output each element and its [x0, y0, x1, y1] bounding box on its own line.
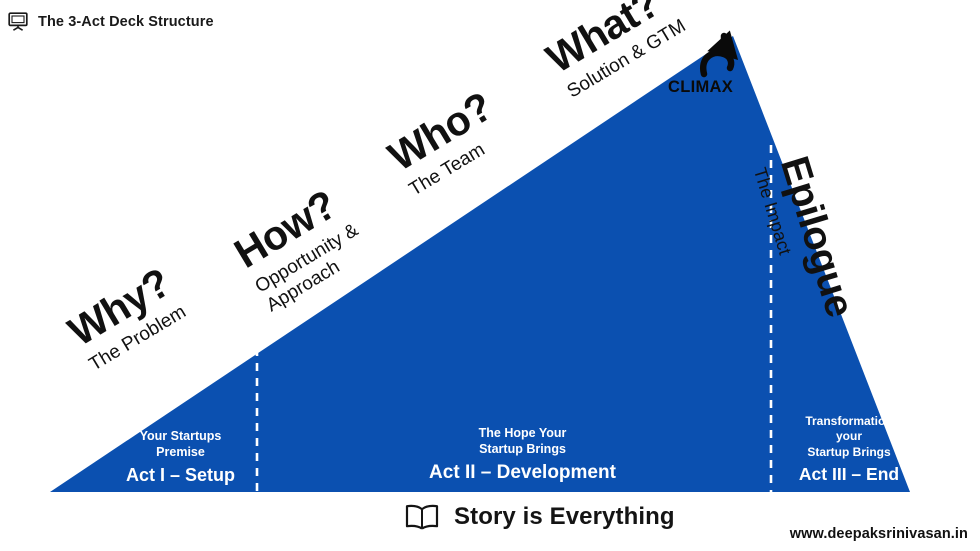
slide-footer: Story is Everything [404, 503, 675, 531]
slide-canvas: The 3-Act Deck Structure Why? The Proble… [0, 0, 980, 551]
footer-tagline: Story is Everything [454, 503, 675, 531]
climax-label: CLIMAX [668, 78, 733, 97]
climax-arrow-icon [696, 22, 752, 84]
open-book-icon [404, 503, 440, 531]
website-url: www.deepaksrinivasan.in [790, 526, 968, 542]
